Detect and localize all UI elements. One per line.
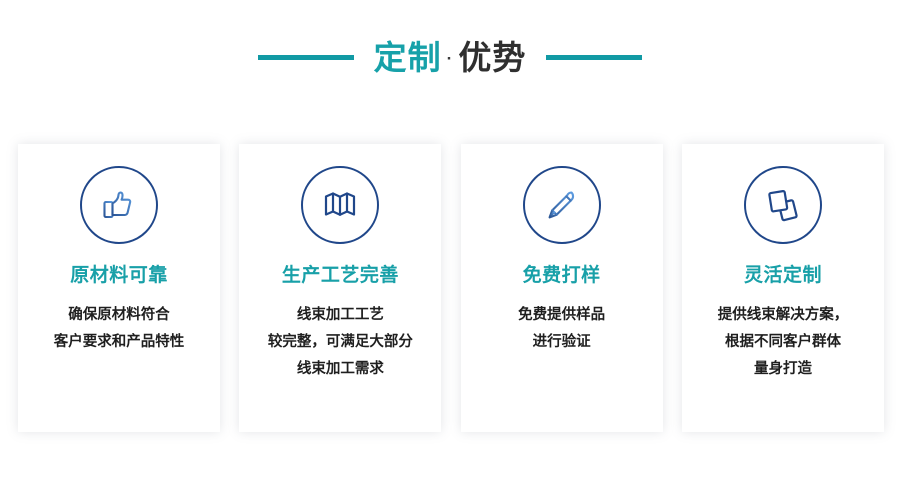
feature-card-body-line: 确保原材料符合 <box>54 302 185 329</box>
feature-card[interactable]: 免费打样 免费提供样品 进行验证 <box>461 144 663 432</box>
title-rule-right <box>546 55 642 60</box>
feature-card-body-line: 量身打造 <box>718 356 849 383</box>
feature-card-body-line: 较完整，可满足大部分 <box>268 329 413 356</box>
feature-card-body: 确保原材料符合 客户要求和产品特性 <box>48 302 191 356</box>
feature-card[interactable]: 原材料可靠 确保原材料符合 客户要求和产品特性 <box>18 144 220 432</box>
feature-card[interactable]: 生产工艺完善 线束加工工艺 较完整，可满足大部分 线束加工需求 <box>239 144 441 432</box>
feature-card-body-line: 线束加工需求 <box>268 356 413 383</box>
feature-card-body-line: 根据不同客户群体 <box>718 329 849 356</box>
page-title: 定制 · 优势 <box>374 41 527 74</box>
feature-card[interactable]: 灵活定制 提供线束解决方案， 根据不同客户群体 量身打造 <box>682 144 884 432</box>
feature-card-body-line: 客户要求和产品特性 <box>54 329 185 356</box>
feature-card-body: 免费提供样品 进行验证 <box>512 302 611 356</box>
feature-card-body-line: 免费提供样品 <box>518 302 605 329</box>
feature-card-heading: 免费打样 <box>523 266 601 285</box>
feature-card-heading: 原材料可靠 <box>70 266 168 285</box>
pencil-icon <box>523 166 601 244</box>
stacked-cards-icon <box>744 166 822 244</box>
section-title: 定制 · 优势 <box>0 34 900 80</box>
title-separator-dot: · <box>447 50 454 67</box>
thumbs-up-icon <box>80 166 158 244</box>
title-accent-text: 定制 <box>374 41 442 74</box>
feature-card-body-line: 提供线束解决方案， <box>718 302 849 329</box>
feature-card-heading: 生产工艺完善 <box>282 266 399 285</box>
feature-card-body-line: 线束加工工艺 <box>268 302 413 329</box>
folded-map-icon <box>301 166 379 244</box>
title-rule-left <box>258 55 354 60</box>
title-plain-text: 优势 <box>458 41 526 74</box>
feature-card-body: 线束加工工艺 较完整，可满足大部分 线束加工需求 <box>262 302 419 382</box>
feature-card-body-line: 进行验证 <box>518 329 605 356</box>
feature-card-body: 提供线束解决方案， 根据不同客户群体 量身打造 <box>712 302 855 382</box>
feature-card-heading: 灵活定制 <box>744 266 822 285</box>
feature-card-list: 原材料可靠 确保原材料符合 客户要求和产品特性 生产工艺完善 线束加工工艺 较完… <box>18 144 884 434</box>
